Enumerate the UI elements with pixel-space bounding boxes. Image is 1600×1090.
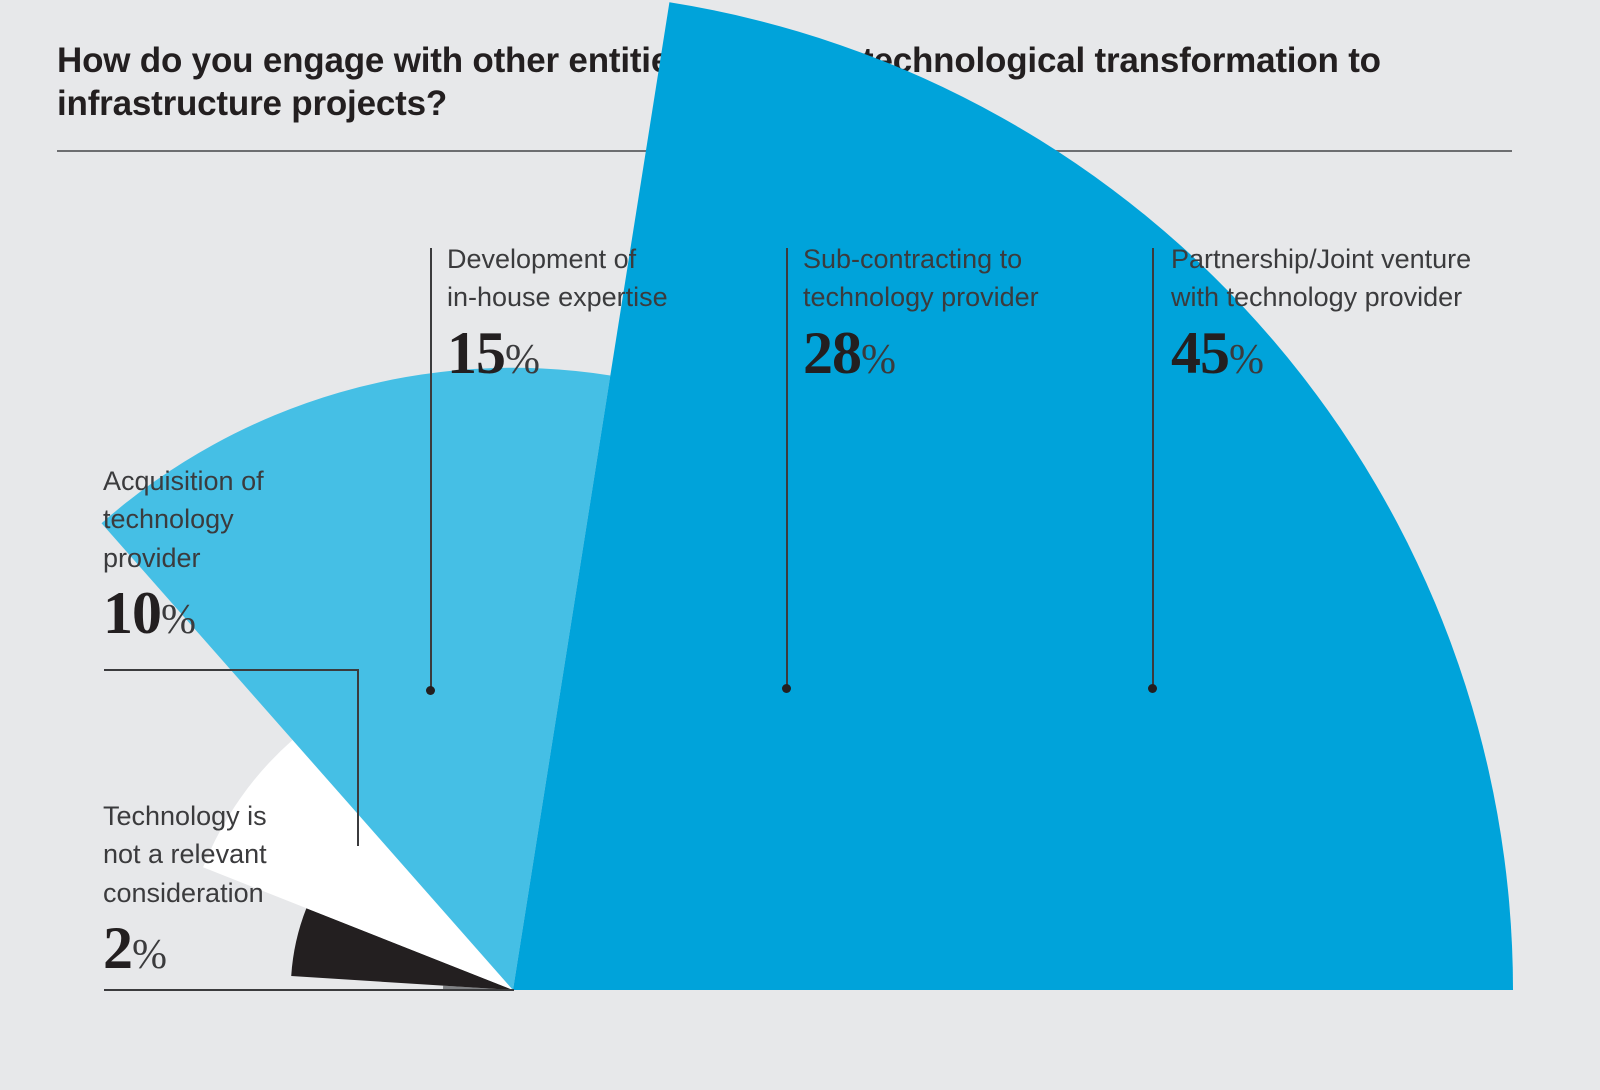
- callout-acquisition-value: 10: [103, 580, 161, 646]
- callout-partnership-label: Partnership/Joint venture with technolog…: [1171, 240, 1471, 317]
- callout-partnership-percent-sign: %: [1229, 337, 1264, 383]
- wedge-group: [102, 2, 1513, 990]
- leader-dot-partnership: [1148, 684, 1157, 693]
- leader-dot-in-house: [426, 686, 435, 695]
- callout-in-house-label: Development of in-house expertise: [447, 240, 668, 317]
- callout-not-relevant-value-wrap: 2%: [103, 918, 267, 978]
- callout-in-house-percent-sign: %: [505, 337, 540, 383]
- leader-dot-sub-contracting: [782, 684, 791, 693]
- leader-line-in-house: [430, 248, 432, 691]
- callout-not-relevant: Technology is not a relevant considerati…: [103, 797, 267, 978]
- leader-line-partnership: [1152, 248, 1154, 689]
- callout-partnership: Partnership/Joint venture with technolog…: [1171, 240, 1471, 383]
- baseline-rule: [104, 989, 514, 991]
- callout-not-relevant-value: 2: [103, 915, 132, 981]
- callout-acquisition-percent-sign: %: [161, 597, 196, 643]
- callout-not-relevant-percent-sign: %: [132, 932, 167, 978]
- callout-acquisition-label: Acquisition of technology provider: [103, 462, 264, 577]
- wedge-partnership-joint-venture-with-technology-provider[interactable]: [513, 2, 1513, 990]
- callout-partnership-value: 45: [1171, 320, 1229, 386]
- callout-sub-contracting-value-wrap: 28%: [803, 323, 1039, 383]
- callout-acquisition: Acquisition of technology provider 10%: [103, 462, 264, 643]
- callout-in-house-value: 15: [447, 320, 505, 386]
- leader-line-acquisition-vertical: [357, 669, 359, 846]
- callout-sub-contracting-label: Sub-contracting to technology provider: [803, 240, 1039, 317]
- callout-sub-contracting-percent-sign: %: [861, 337, 896, 383]
- callout-acquisition-value-wrap: 10%: [103, 583, 264, 643]
- callout-not-relevant-label: Technology is not a relevant considerati…: [103, 797, 267, 912]
- leader-line-sub-contracting: [786, 248, 788, 689]
- callout-partnership-value-wrap: 45%: [1171, 323, 1471, 383]
- callout-sub-contracting-value: 28: [803, 320, 861, 386]
- leader-line-acquisition-horizontal: [104, 669, 359, 671]
- callout-in-house: Development of in-house expertise 15%: [447, 240, 668, 383]
- callout-sub-contracting: Sub-contracting to technology provider 2…: [803, 240, 1039, 383]
- callout-in-house-value-wrap: 15%: [447, 323, 668, 383]
